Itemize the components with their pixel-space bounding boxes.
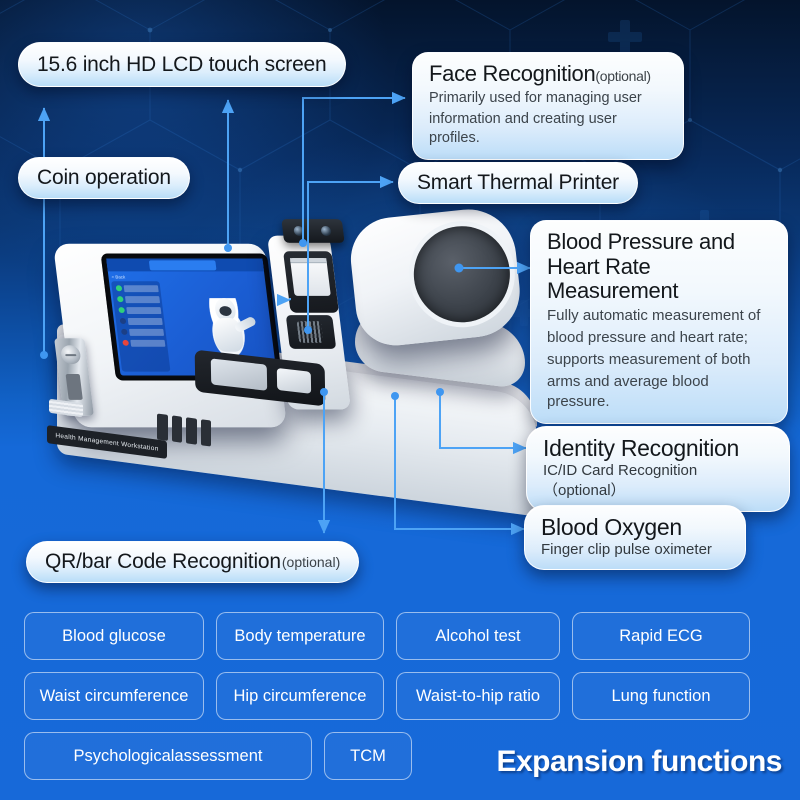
callout-identity-subtitle: IC/ID Card Recognition	[543, 462, 697, 479]
callout-blood-pressure[interactable]: Blood Pressure and Heart Rate Measuremen…	[530, 220, 788, 424]
callout-identity-recognition[interactable]: Identity Recognition IC/ID Card Recognit…	[526, 426, 790, 512]
callout-bp-desc-2: blood pressure and heart rate;	[547, 328, 771, 348]
expansion-row-2: Waist circumferenceHip circumferenceWais…	[24, 672, 750, 720]
callout-screen-title: 15.6 inch HD LCD touch screen	[37, 53, 327, 77]
callout-oxygen-subtitle: Finger clip pulse oximeter	[541, 541, 729, 558]
thermal-printer-module	[283, 251, 339, 313]
callout-qr-optional: (optional)	[282, 554, 340, 570]
callout-oxygen-title: Blood Oxygen	[541, 515, 729, 541]
face-recognition-camera	[281, 219, 344, 243]
callout-bp-desc-4: arms and average blood pressure.	[547, 372, 771, 412]
blood-pressure-cuff	[347, 205, 524, 350]
coin-knob	[60, 345, 81, 364]
callout-thermal-printer[interactable]: Smart Thermal Printer	[398, 162, 638, 204]
expansion-row-1: Blood glucoseBody temperatureAlcohol tes…	[24, 612, 750, 660]
callout-face-title: Face Recognition	[429, 61, 595, 86]
expansion-chip[interactable]: Waist circumference	[24, 672, 204, 720]
finger-clip-oximeter	[277, 368, 311, 394]
expansion-chip[interactable]: TCM	[324, 732, 412, 780]
callout-face-desc-2: information and creating user profiles.	[429, 110, 667, 149]
expansion-chip[interactable]: Rapid ECG	[572, 612, 750, 660]
callout-identity-subtitle-row: IC/ID Card Recognition（optional）	[543, 462, 773, 500]
callout-identity-title: Identity Recognition	[543, 436, 773, 462]
screen-ui-back-label: < Back	[111, 274, 125, 279]
expansion-chip[interactable]: Psychologicalassessment	[24, 732, 312, 780]
callout-face-recognition[interactable]: Face Recognition(optional) Primarily use…	[412, 52, 684, 160]
ic-id-card-reader	[286, 315, 336, 349]
callout-face-optional: (optional)	[595, 68, 650, 84]
kiosk-device-illustration: < Back	[35, 205, 555, 535]
callout-screen[interactable]: 15.6 inch HD LCD touch screen	[18, 42, 346, 87]
callout-bp-title-2: Heart Rate Measurement	[547, 255, 771, 304]
callout-blood-oxygen[interactable]: Blood Oxygen Finger clip pulse oximeter	[524, 505, 746, 570]
callout-bp-title-1: Blood Pressure and	[547, 230, 771, 255]
expansion-chip[interactable]: Lung function	[572, 672, 750, 720]
expansion-chip[interactable]: Blood glucose	[24, 612, 204, 660]
callout-face-desc-1: Primarily used for managing user	[429, 89, 667, 108]
callout-coin-title: Coin operation	[37, 166, 171, 190]
cuff-arm-opening	[409, 221, 515, 327]
callout-qr-title: QR/bar Code Recognition	[45, 550, 281, 574]
expansion-functions-section: Blood glucoseBody temperatureAlcohol tes…	[0, 600, 800, 800]
expansion-row-3: PsychologicalassessmentTCM	[24, 732, 412, 780]
callout-qr-code[interactable]: QR/bar Code Recognition(optional)	[26, 541, 359, 583]
screen-robot-illustration	[204, 298, 256, 360]
callout-identity-optional: （optional）	[543, 482, 626, 499]
callout-bp-desc-1: Fully automatic measurement of	[547, 306, 771, 326]
callout-bp-desc-3: supports measurement of both	[547, 350, 771, 370]
callout-face-heading: Face Recognition(optional)	[429, 62, 667, 87]
expansion-chip[interactable]: Alcohol test	[396, 612, 560, 660]
callout-printer-title: Smart Thermal Printer	[417, 171, 619, 195]
screen-ui-tab	[149, 260, 217, 270]
expansion-chip[interactable]: Waist-to-hip ratio	[396, 672, 560, 720]
coin-return-slot	[66, 374, 83, 400]
qr-scan-window	[211, 358, 267, 390]
expansion-functions-title: Expansion functions	[496, 745, 782, 779]
screen-ui-steps-panel	[111, 281, 170, 371]
callout-coin-operation[interactable]: Coin operation	[18, 157, 190, 199]
expansion-chip[interactable]: Hip circumference	[216, 672, 384, 720]
expansion-chip[interactable]: Body temperature	[216, 612, 384, 660]
feature-infographic: < Back	[0, 0, 800, 800]
